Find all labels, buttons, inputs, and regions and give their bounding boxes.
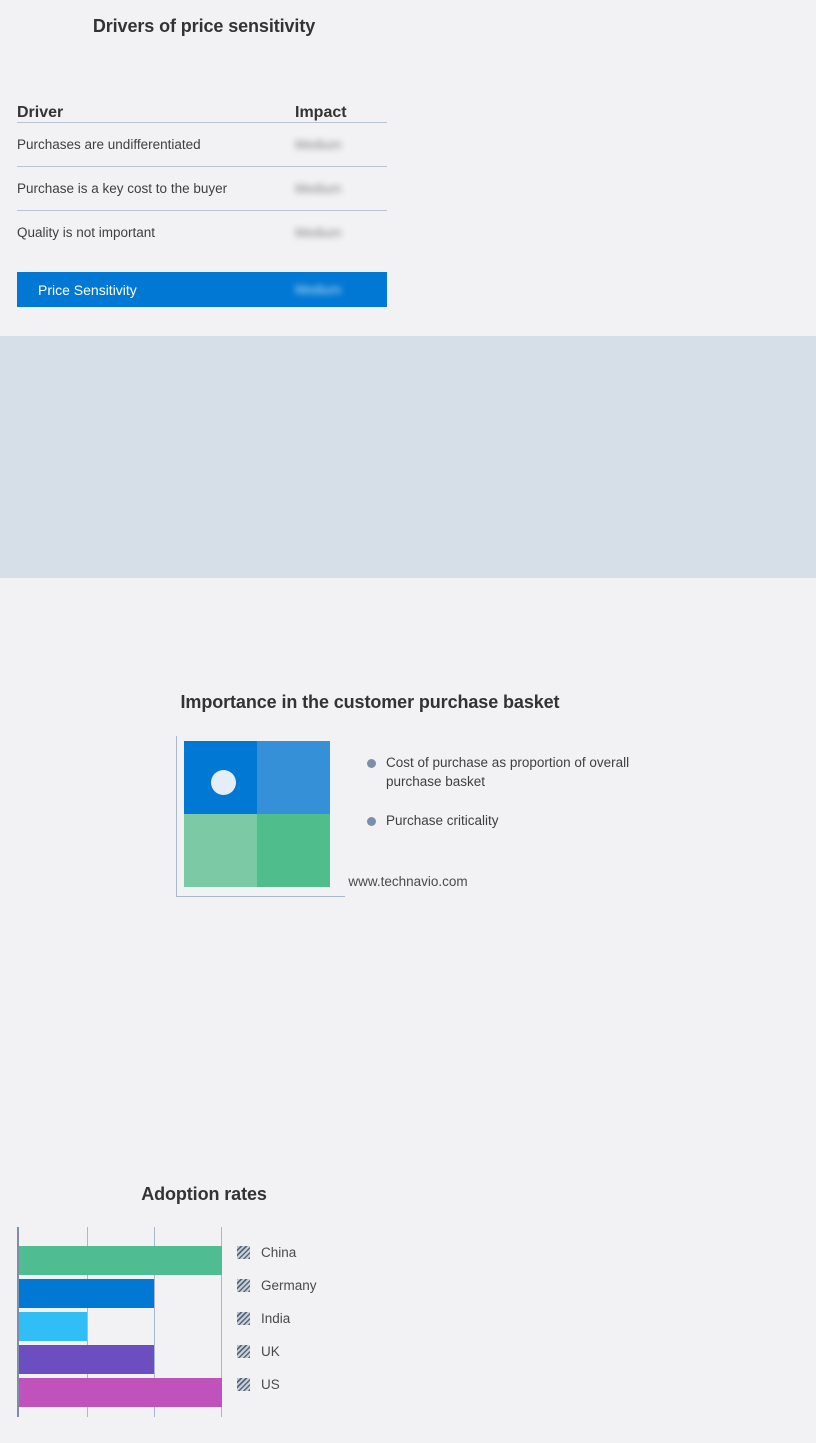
impact-value-obscured: Medium [295,137,341,152]
column-header-impact: Impact [295,104,387,122]
bar [19,1312,87,1341]
adoption-rates-legend: ChinaGermanyIndiaUKUS [237,1236,317,1401]
impact-value-obscured: Medium [295,181,341,196]
legend-label: Germany [261,1278,317,1293]
hatched-swatch-icon [237,1345,250,1358]
panel-drivers-of-price-sensitivity: Drivers of price sensitivity Driver Impa… [0,0,408,336]
column-header-driver: Driver [17,104,295,122]
bar [19,1279,154,1308]
impact-cell: Medium [295,136,387,154]
bar [19,1345,154,1374]
price-sensitivity-summary-bar: Price Sensitivity Medium [17,272,387,307]
drivers-table: Driver Impact Purchases are undifferenti… [17,92,387,254]
table-row: Purchases are undifferentiated Medium [17,123,387,167]
hatched-swatch-icon [237,1279,250,1292]
hatched-swatch-icon [237,1246,250,1259]
impact-value-obscured: Medium [295,282,341,297]
adoption-bars-group [19,1246,222,1407]
impact-value-obscured: Medium [295,225,341,240]
legend-label: China [261,1245,296,1260]
bar [19,1246,222,1275]
drivers-panel-title: Drivers of price sensitivity [0,16,408,37]
impact-cell: Medium [295,180,387,198]
panel-adoption-rates: Adoption rates ChinaGermanyIndiaUKUS [0,578,408,902]
hatched-swatch-icon [237,1312,250,1325]
panel-key-purchase-criteria: Key purchase criteria InnovationPriceQua… [408,578,816,902]
list-item: US [237,1368,317,1401]
legend-label: US [261,1377,280,1392]
footer-url: www.technavio.com [0,874,816,889]
impact-cell: Medium [295,224,387,242]
adoption-panel-title: Adoption rates [0,1184,408,1205]
legend-label: India [261,1311,290,1326]
adoption-rates-bar-chart [17,1227,222,1417]
panel-adoption-lifecycle: Adoption lifecycle Innovators EarlyAdopt… [408,0,816,336]
list-item: India [237,1302,317,1335]
driver-cell: Purchase is a key cost to the buyer [17,181,295,196]
legend-label: UK [261,1344,280,1359]
hatched-swatch-icon [237,1378,250,1391]
table-row: Purchase is a key cost to the buyer Medi… [17,167,387,211]
bar [19,1378,222,1407]
list-item: Germany [237,1269,317,1302]
table-row: Quality is not important Medium [17,211,387,254]
panel-purchase-basket-importance: Importance in the customer purchase bask… [0,336,816,578]
drivers-table-header-row: Driver Impact [17,92,387,123]
list-item: UK [237,1335,317,1368]
price-sensitivity-impact-cell: Medium [295,281,387,299]
driver-cell: Quality is not important [17,225,295,240]
poster-page: Drivers of price sensitivity Driver Impa… [0,0,816,902]
price-sensitivity-label: Price Sensitivity [38,282,295,298]
list-item: China [237,1236,317,1269]
driver-cell: Purchases are undifferentiated [17,137,295,152]
